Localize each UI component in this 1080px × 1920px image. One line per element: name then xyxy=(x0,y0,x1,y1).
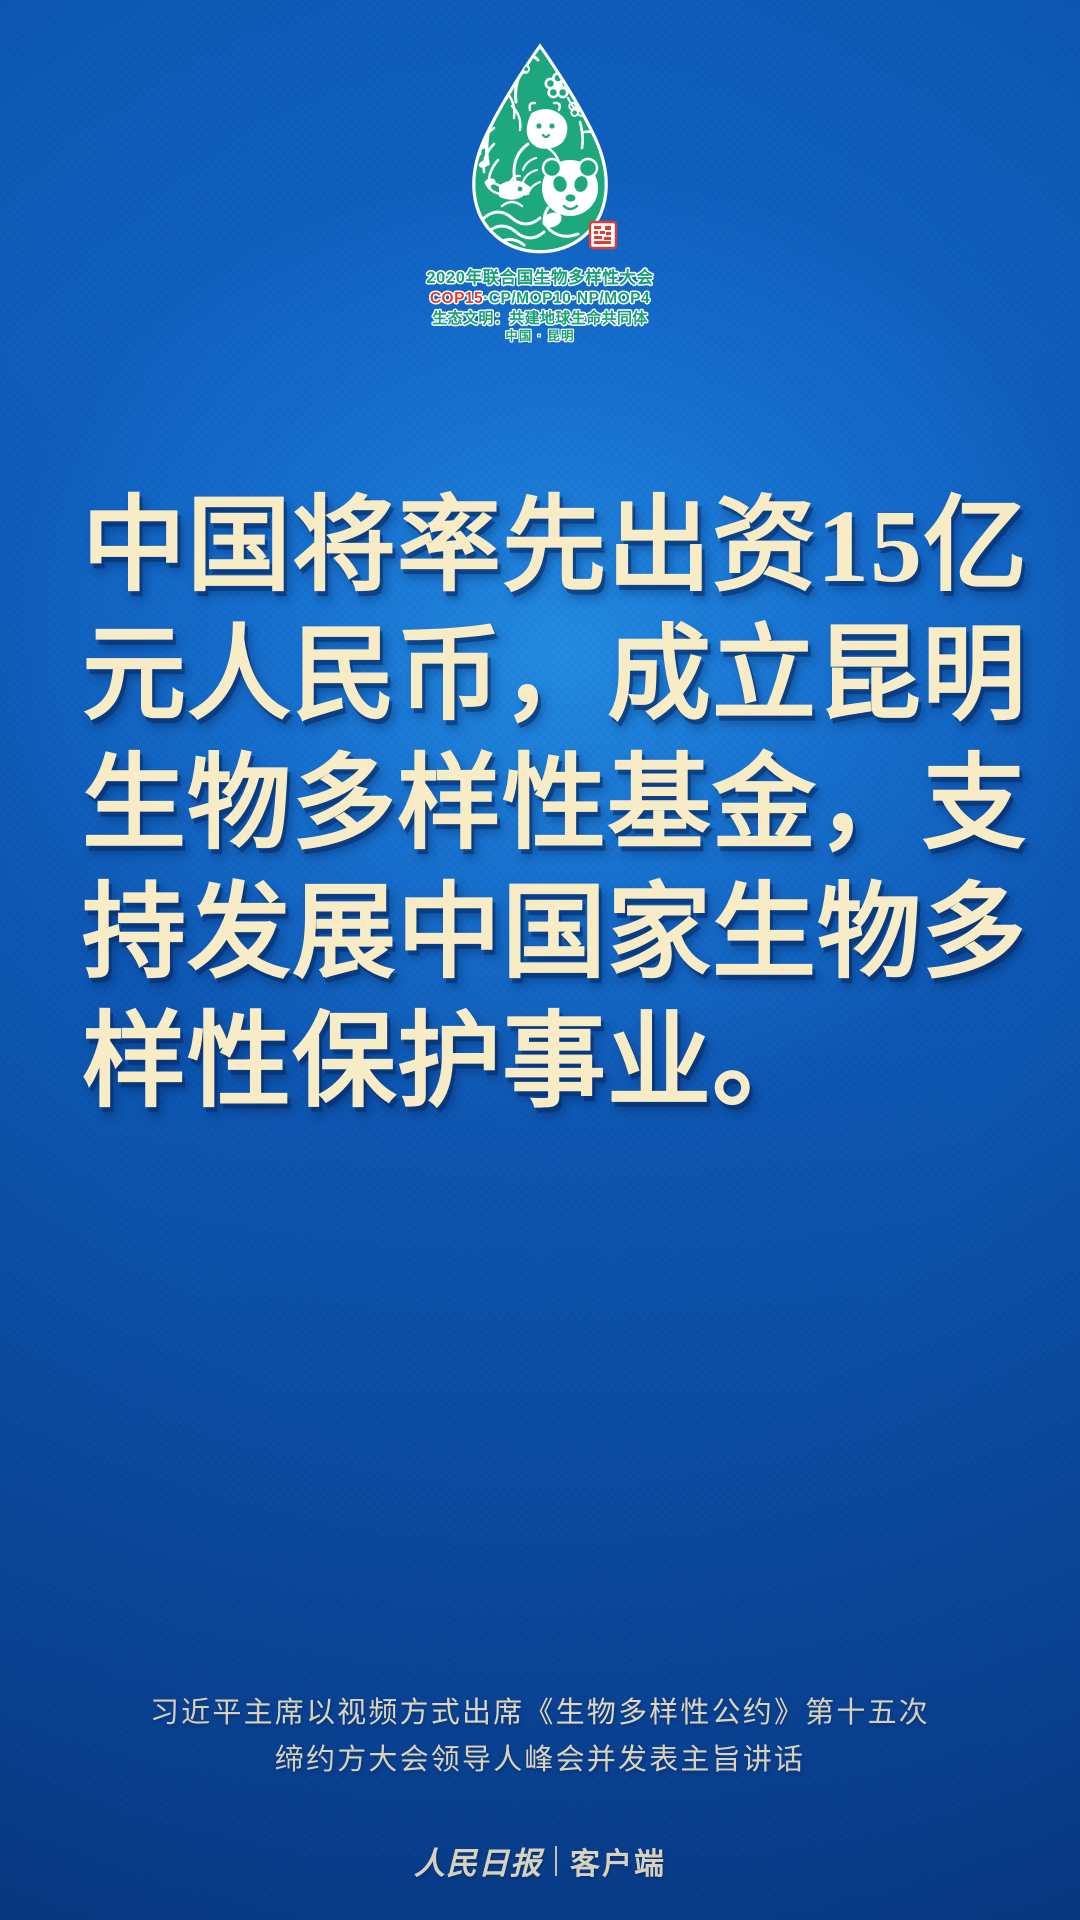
headline-line: 生物多样性基金，支 xyxy=(82,740,998,869)
headline-line: 元人民币，成立昆明 xyxy=(82,611,998,740)
peoples-daily-brand: 人民日报 客户端 xyxy=(0,1838,1080,1883)
logo-cop15-code: COP15 xyxy=(430,290,483,307)
logo-line-theme: 生态文明：共建地球生命共同体 xyxy=(0,309,1080,328)
caption-block: 习近平主席以视频方式出席《生物多样性公约》第十五次 缔约方大会领导人峰会并发表主… xyxy=(0,1690,1080,1784)
caption-line: 习近平主席以视频方式出席《生物多样性公约》第十五次 xyxy=(0,1690,1080,1737)
logo-line-conference-name: 2020年联合国生物多样性大会 xyxy=(0,268,1080,289)
poster-canvas: 2020年联合国生物多样性大会 COP15·CP/MOP10·NP/MOP4 生… xyxy=(0,0,1080,1920)
emblem-red-seal-icon xyxy=(590,222,616,248)
logo-line-cop-codes: COP15·CP/MOP10·NP/MOP4 xyxy=(0,289,1080,309)
caption-line: 缔约方大会领导人峰会并发表主旨讲话 xyxy=(0,1737,1080,1784)
brand-divider xyxy=(555,1846,557,1876)
logo-text-lines: 2020年联合国生物多样性大会 COP15·CP/MOP10·NP/MOP4 生… xyxy=(0,268,1080,344)
headline-line: 样性保护事业。 xyxy=(82,998,998,1127)
emblem-droplet-shape xyxy=(474,46,606,252)
brand-app-label: 客户端 xyxy=(570,1839,666,1883)
brand-name-logo: 人民日报 xyxy=(414,1838,542,1883)
cop15-logo-block: 2020年联合国生物多样性大会 COP15·CP/MOP10·NP/MOP4 生… xyxy=(0,36,1080,344)
headline-line: 持发展中国家生物多 xyxy=(82,869,998,998)
cop15-biodiversity-emblem-icon xyxy=(440,36,640,266)
logo-mop-codes: ·CP/MOP10·NP/MOP4 xyxy=(483,290,650,307)
headline-line: 中国将率先出资15亿 xyxy=(82,482,998,611)
logo-line-location: 中国 · 昆明 xyxy=(0,328,1080,344)
headline-quote: 中国将率先出资15亿 元人民币，成立昆明 生物多样性基金，支 持发展中国家生物多… xyxy=(82,482,998,1127)
